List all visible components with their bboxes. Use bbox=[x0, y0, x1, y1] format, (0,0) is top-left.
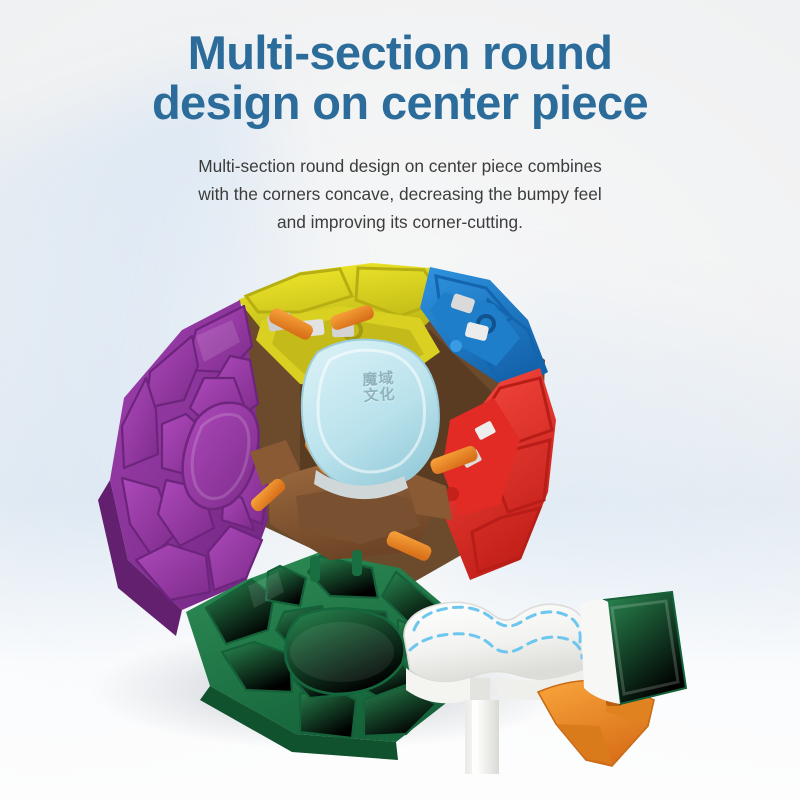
green-cap-tile bbox=[580, 592, 686, 704]
page-description: Multi-section round design on center pie… bbox=[0, 152, 800, 236]
copy-block: Multi-section round design on center pie… bbox=[0, 28, 800, 236]
page-title: Multi-section round design on center pie… bbox=[0, 28, 800, 129]
center-stem bbox=[465, 700, 499, 774]
product-feature-slide: Multi-section round design on center pie… bbox=[0, 0, 800, 800]
